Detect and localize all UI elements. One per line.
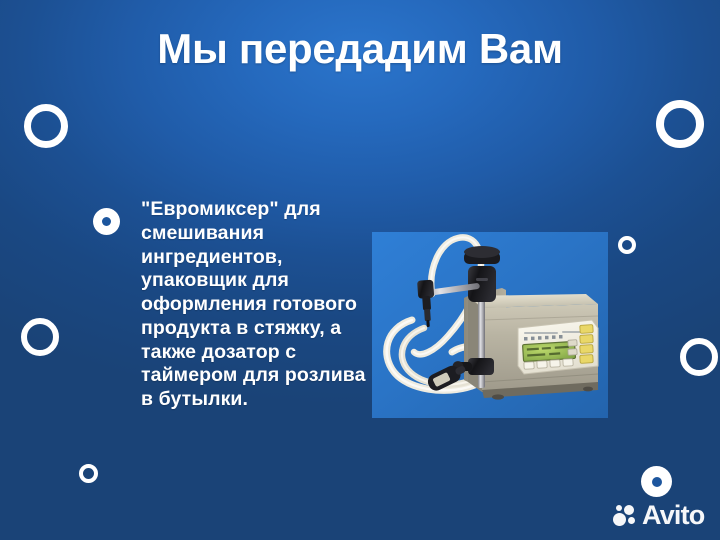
ring-top-right-icon [656, 100, 704, 148]
product-photo-filling-machine [372, 232, 608, 418]
avito-watermark: Avito [613, 500, 705, 530]
donut-bottom-right-icon [641, 466, 672, 497]
ring-mid-right-icon [680, 338, 718, 376]
donut-bullet-icon [93, 208, 120, 235]
ring-top-left-icon [24, 104, 68, 148]
avito-brand-label: Avito [642, 502, 705, 529]
ring-bottom-left-icon [79, 464, 98, 483]
slide-title: Мы передадим Вам [0, 26, 720, 72]
ring-small-right-icon [618, 236, 636, 254]
slide-canvas: Мы передадим Вам "Евромиксер" для смешив… [0, 0, 720, 540]
slide-body-text: "Евромиксер" для смешивания ингредиентов… [141, 198, 373, 412]
ring-mid-left-icon [21, 318, 59, 356]
avito-dots-icon [613, 504, 637, 526]
